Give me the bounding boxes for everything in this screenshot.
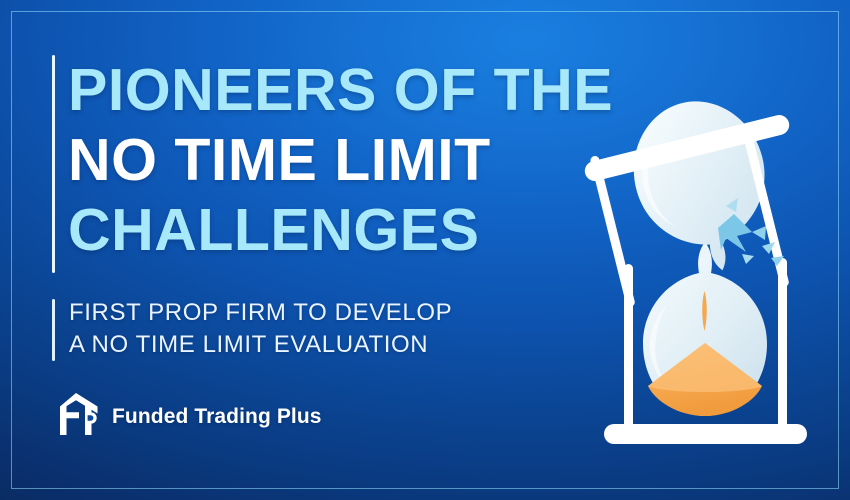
- subtitle-block: FIRST PROP FIRM TO DEVELOP A NO TIME LIM…: [52, 297, 572, 361]
- ftp-monogram-icon: [53, 392, 99, 441]
- broken-hourglass-illustration: [566, 86, 844, 463]
- subtitle-line-2: A NO TIME LIMIT EVALUATION: [52, 329, 572, 361]
- brand-logo: Funded Trading Plus: [53, 392, 322, 441]
- subtitle-accent-rule: [52, 299, 55, 361]
- hourglass-lower-bulb: [643, 242, 767, 416]
- brand-name: Funded Trading Plus: [112, 405, 322, 429]
- subtitle-line-1: FIRST PROP FIRM TO DEVELOP: [52, 297, 572, 329]
- promo-banner: PIONEERS OF THE NO TIME LIMIT CHALLENGES…: [0, 0, 850, 500]
- headline-accent-rule: [52, 55, 55, 273]
